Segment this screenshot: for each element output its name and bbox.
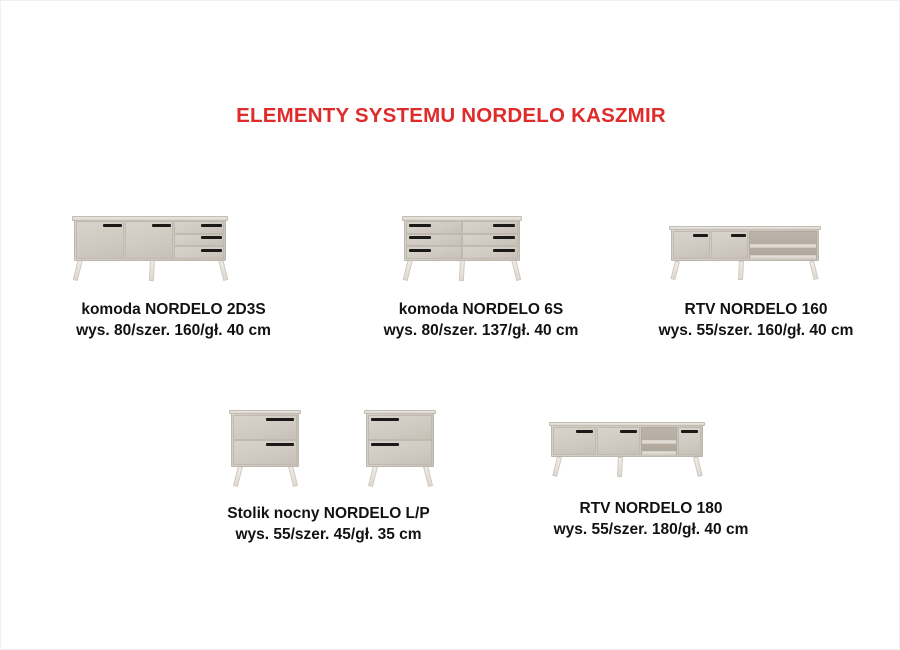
handle-door-right [152, 224, 171, 227]
caption-stolik-nocny-nordelo-lp: Stolik nocny NORDELO L/P wys. 55/szer. 4… [201, 503, 456, 546]
leg-front-left [670, 260, 679, 280]
leg-front-mid [617, 457, 623, 477]
leg-front-right [511, 258, 521, 281]
product-rtv-nordelo-180[interactable]: RTV NORDELO 180 wys. 55/szer. 180/gł. 40… [521, 399, 781, 541]
drawer-1 [174, 221, 224, 234]
leg-front-left [73, 258, 83, 281]
product-image-rtv-nordelo-180 [521, 399, 781, 498]
door-right [125, 221, 173, 259]
handle-drawer-1 [201, 224, 222, 227]
cabinet-top [669, 226, 821, 230]
shelf-bottom [750, 255, 816, 259]
product-rtv-nordelo-160[interactable]: RTV NORDELO 160 wys. 55/szer. 160/gł. 40… [631, 201, 881, 342]
caption-line1: RTV NORDELO 180 [521, 498, 781, 519]
handle-drawer-l1 [371, 418, 399, 421]
product-komoda-nordelo-6s[interactable]: komoda NORDELO 6S wys. 80/szer. 137/gł. … [356, 201, 606, 342]
product-image-rtv-nordelo-160 [631, 201, 881, 299]
catalog-page: ELEMENTY SYSTEMU NORDELO KASZMIR [0, 0, 900, 650]
drawer-r1 [462, 221, 518, 234]
handle-door-left-1 [576, 430, 593, 433]
leg-front-right [218, 258, 228, 281]
product-image-komoda-nordelo-6s [356, 201, 606, 299]
handle-drawer-p2 [266, 443, 294, 446]
caption-komoda-nordelo-2d3s: komoda NORDELO 2D3S wys. 80/szer. 160/gł… [46, 299, 301, 342]
handle-drawer-r2 [493, 236, 515, 239]
shelf-divider [750, 244, 816, 248]
page-title: ELEMENTY SYSTEMU NORDELO KASZMIR [1, 104, 900, 128]
drawer-l1 [406, 221, 462, 234]
caption-rtv-nordelo-160: RTV NORDELO 160 wys. 55/szer. 160/gł. 40… [631, 299, 881, 342]
leg-right-l [423, 465, 433, 487]
handle-drawer-r3 [493, 249, 515, 252]
shelf-bottom [642, 451, 676, 455]
caption-line2: wys. 55/szer. 160/gł. 40 cm [631, 320, 881, 341]
caption-rtv-nordelo-180: RTV NORDELO 180 wys. 55/szer. 180/gł. 40… [521, 498, 781, 541]
leg-left-p [233, 465, 243, 487]
shelf-divider [642, 440, 676, 444]
handle-drawer-l3 [409, 249, 431, 252]
caption-line2: wys. 55/szer. 45/gł. 35 cm [201, 524, 456, 545]
handle-door-left-2 [620, 430, 637, 433]
caption-line2: wys. 55/szer. 180/gł. 40 cm [521, 519, 781, 540]
caption-line1: komoda NORDELO 6S [356, 299, 606, 320]
handle-drawer-l2 [371, 443, 399, 446]
leg-front-mid [738, 261, 744, 280]
caption-line1: RTV NORDELO 160 [631, 299, 881, 320]
handle-drawer-l1 [409, 224, 431, 227]
leg-right-p [288, 465, 298, 487]
door-left [76, 221, 124, 259]
leg-front-mid [459, 259, 465, 281]
handle-drawer-l2 [409, 236, 431, 239]
handle-drawer-2 [201, 236, 222, 239]
handle-drawer-3 [201, 249, 222, 252]
product-image-stolik-nocny-nordelo-lp [201, 393, 456, 503]
cabinet-top-l [364, 410, 436, 414]
product-komoda-nordelo-2d3s[interactable]: komoda NORDELO 2D3S wys. 80/szer. 160/gł… [46, 201, 301, 342]
caption-line1: Stolik nocny NORDELO L/P [201, 503, 456, 524]
caption-komoda-nordelo-6s: komoda NORDELO 6S wys. 80/szer. 137/gł. … [356, 299, 606, 342]
leg-front-right [693, 456, 703, 477]
handle-door-left [103, 224, 122, 227]
caption-line2: wys. 80/szer. 137/gł. 40 cm [356, 320, 606, 341]
handle-drawer-p1 [266, 418, 294, 421]
product-stolik-nocny-nordelo-lp[interactable]: Stolik nocny NORDELO L/P wys. 55/szer. 4… [201, 393, 456, 546]
handle-drawer-r1 [493, 224, 515, 227]
product-image-komoda-nordelo-2d3s [46, 201, 301, 299]
leg-left-l [368, 465, 378, 487]
leg-front-right [809, 260, 818, 280]
leg-front-left [552, 456, 562, 477]
handle-door-right [681, 430, 698, 433]
caption-line2: wys. 80/szer. 160/gł. 40 cm [46, 320, 301, 341]
cabinet-top [549, 422, 705, 426]
caption-line1: komoda NORDELO 2D3S [46, 299, 301, 320]
leg-front-left [403, 258, 413, 281]
cabinet-top-p [229, 410, 301, 414]
handle-door-left [693, 234, 708, 237]
leg-front-mid [149, 259, 155, 281]
handle-door-right [731, 234, 746, 237]
